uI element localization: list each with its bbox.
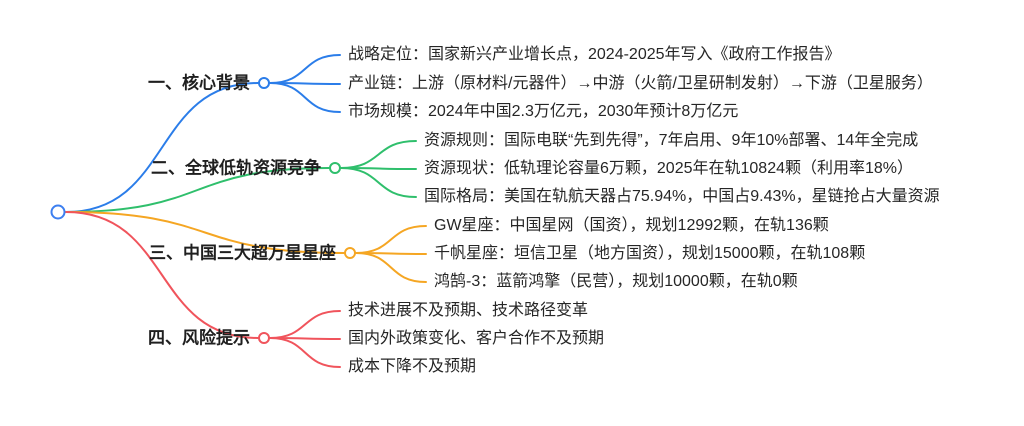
leaf-label-3-1[interactable]: GW星座：中国星网（国资），规划12992颗，在轨136颗 <box>434 218 829 234</box>
leaf-label-4-3[interactable]: 成本下降不及预期 <box>348 359 476 375</box>
leaf-label-1-3[interactable]: 市场规模：2024年中国2.3万亿元，2030年预计8万亿元 <box>348 104 738 120</box>
mindmap-edge <box>270 83 340 112</box>
mindmap-edge <box>270 55 340 83</box>
mindmap-edge <box>270 338 340 367</box>
leaf-label-2-3[interactable]: 国际格局：美国在轨航天器占75.94%，中国占9.43%，星链抢占大量资源 <box>424 189 940 205</box>
leaf-label-3-3[interactable]: 鸿鹄-3：蓝箭鸿擎（民营），规划10000颗，在轨0颗 <box>434 274 798 290</box>
mindmap-edge <box>356 253 426 254</box>
branch-label-3[interactable]: 三、中国三大超万星星座 <box>149 245 336 262</box>
branch-label-4[interactable]: 四、风险提示 <box>148 330 250 347</box>
mindmap-edge <box>66 212 258 338</box>
mindmap-edge <box>66 83 258 212</box>
branch-node-1[interactable] <box>258 77 270 89</box>
mindmap-canvas: 一、核心背景战略定位：国家新兴产业增长点，2024-2025年写入《政府工作报告… <box>0 0 1024 426</box>
mindmap-edge <box>341 168 416 169</box>
leaf-label-4-2[interactable]: 国内外政策变化、客户合作不及预期 <box>348 331 604 347</box>
leaf-label-1-1[interactable]: 战略定位：国家新兴产业增长点，2024-2025年写入《政府工作报告》 <box>348 47 841 63</box>
branch-node-3[interactable] <box>344 247 356 259</box>
mindmap-edge <box>356 253 426 282</box>
branch-node-4[interactable] <box>258 332 270 344</box>
root-node[interactable] <box>51 205 66 220</box>
mindmap-edge <box>270 311 340 338</box>
mindmap-edge <box>356 226 426 253</box>
mindmap-edge <box>341 168 416 197</box>
leaf-label-2-1[interactable]: 资源规则：国际电联“先到先得”，7年启用、9年10%部署、14年全完成 <box>424 133 918 149</box>
mindmap-edges <box>0 0 1024 426</box>
mindmap-edge <box>270 338 340 339</box>
branch-label-2[interactable]: 二、全球低轨资源竞争 <box>151 160 321 177</box>
branch-label-1[interactable]: 一、核心背景 <box>148 75 250 92</box>
leaf-label-2-2[interactable]: 资源现状：低轨理论容量6万颗，2025年在轨10824颗（利用率18%） <box>424 161 913 177</box>
mindmap-edge <box>270 83 340 84</box>
leaf-label-3-2[interactable]: 千帆星座：垣信卫星（地方国资），规划15000颗，在轨108颗 <box>434 246 865 262</box>
branch-node-2[interactable] <box>329 162 341 174</box>
mindmap-edge <box>341 141 416 168</box>
leaf-label-4-1[interactable]: 技术进展不及预期、技术路径变革 <box>348 303 588 319</box>
leaf-label-1-2[interactable]: 产业链：上游（原材料/元器件）→中游（火箭/卫星研制发射）→下游（卫星服务） <box>348 76 933 92</box>
